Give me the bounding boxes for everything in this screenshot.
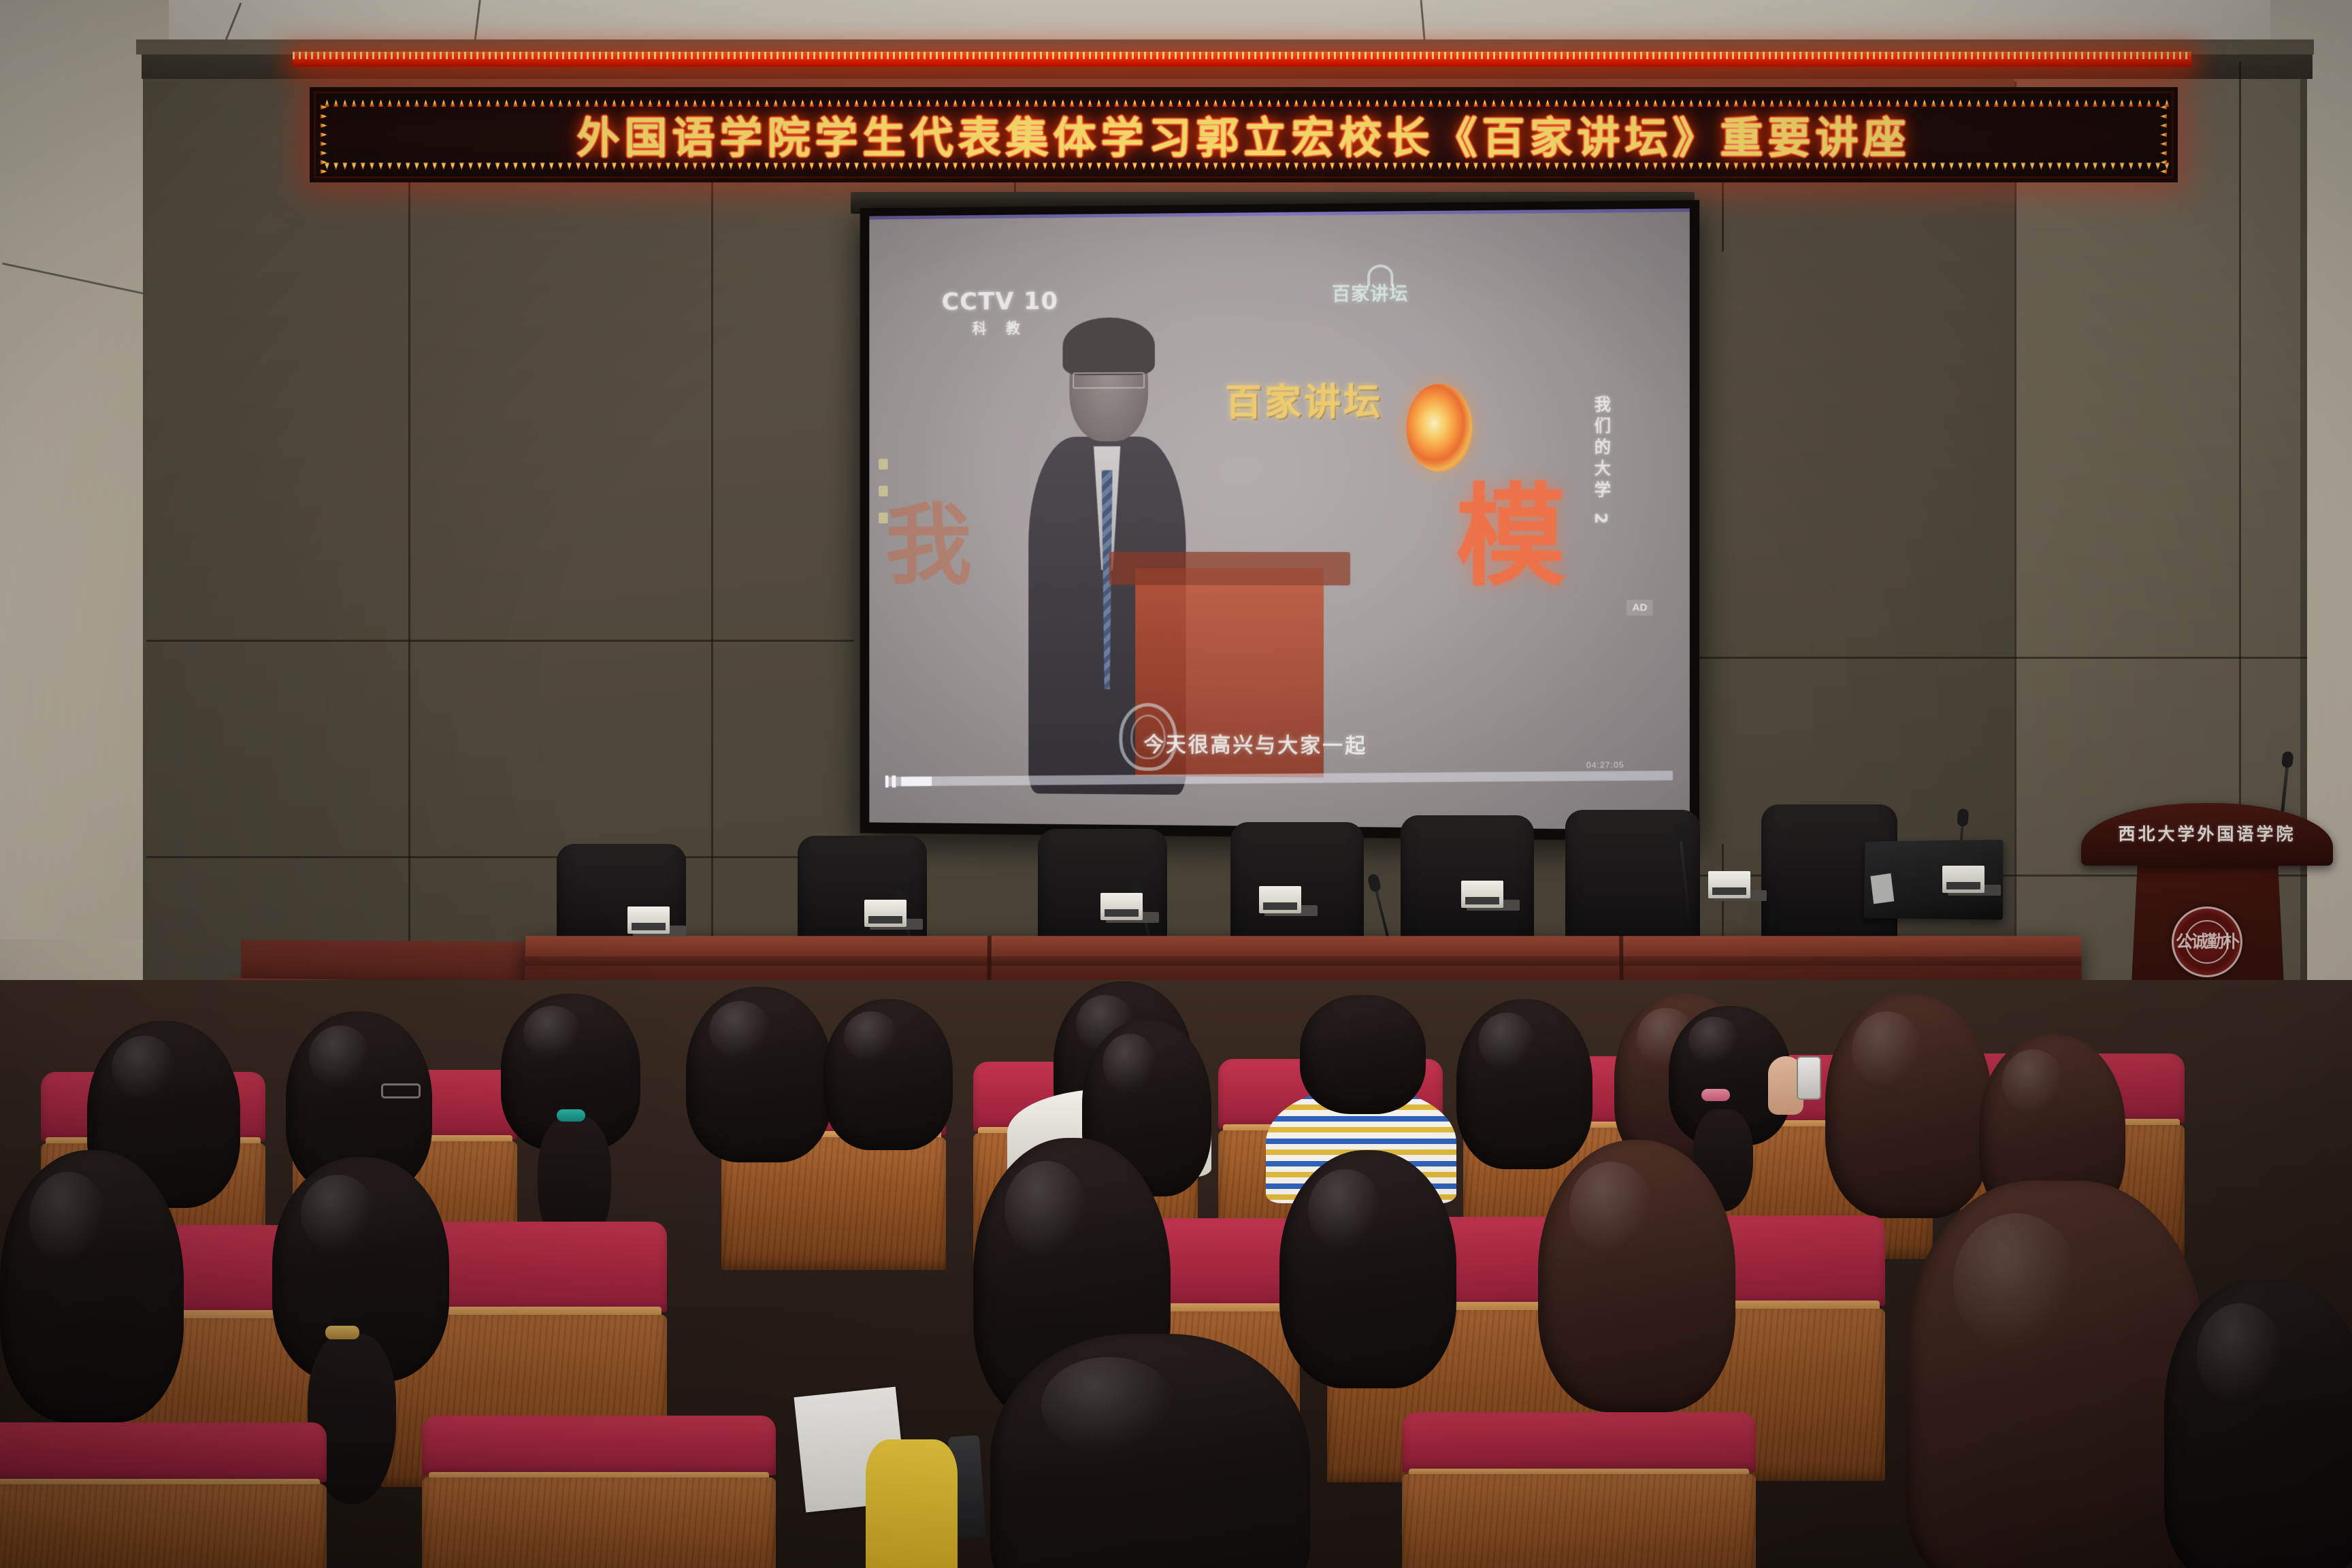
wall-panel-seam [1695,657,2307,659]
nameplate [1259,886,1301,913]
seat-cushion [0,1422,327,1482]
watermark-arc-icon [1367,265,1393,288]
program-watermark: 百家讲坛 [1332,279,1408,306]
seat-back-wood [422,1477,776,1568]
hairtie-icon [325,1326,359,1339]
glasses-icon [381,1083,421,1098]
university-seal-icon: 公诚勤朴 [2172,906,2242,977]
audience-head [1279,1150,1456,1388]
hairtie-icon [1701,1089,1730,1101]
hairtie-icon [557,1109,585,1122]
program-title: 百家讲坛 [1225,372,1383,426]
seat-cushion [1402,1412,1756,1472]
wall-panel-seam [2014,82,2016,1021]
wall-panel-seam [146,640,854,642]
lecturer-hair [1063,317,1155,375]
smartphone[interactable] [1797,1056,1821,1100]
audience-head [1456,999,1592,1169]
seat-cushion [422,1416,776,1475]
wall-panel-seam [408,170,410,1007]
projection-screen-frame: CCTV 10 科 教 百家讲坛 我 百家讲坛 模 我们的大学 2 [860,200,1699,841]
led-banner-text: 外国语学院学生代表集体学习郭立宏校长《百家讲坛》重要讲座 [310,104,2178,166]
audience-head [1906,1181,2205,1568]
audience-head [0,1150,184,1422]
screen-top-edge-line [869,208,1689,219]
seat-back-wood [1402,1474,1756,1568]
audience-head [990,1334,1310,1568]
red-neon-strip [293,52,2191,67]
seat[interactable] [1402,1412,1756,1568]
pause-icon[interactable] [885,775,896,787]
player-timecode: 04:27:05 [1586,760,1624,770]
cctv-channel-label: CCTV 10 [941,288,1058,316]
nameplate [864,900,906,927]
nameplate [1461,881,1503,908]
stage-table-top [525,936,2082,956]
audience-head [1825,994,1992,1218]
program-emblem-icon [1406,383,1472,471]
audience-head [823,999,953,1150]
seat[interactable] [422,1416,776,1568]
seat-back-wood [0,1484,327,1568]
wall-panel-seam [1722,170,1724,252]
audience-head [2164,1279,2352,1568]
screen-subtitle: 今天很高兴与大家一起 [1143,727,1367,758]
led-banner: 外国语学院学生代表集体学习郭立宏校长《百家讲坛》重要讲座 [310,87,2178,182]
wall-panel-seam [711,170,713,994]
nameplate [1100,893,1143,920]
lecturer-glasses-icon [1073,372,1145,389]
stage-table-lip [525,956,2081,966]
nameplate [1942,866,1984,893]
audience-head [1300,995,1426,1114]
projection-screen: CCTV 10 科 教 百家讲坛 我 百家讲坛 模 我们的大学 2 [869,208,1689,830]
ad-badge: AD [1627,600,1652,615]
audience-head [686,987,832,1162]
seal-glyph: 公诚勤朴 [2174,909,2240,975]
laptop-label-tag [1870,873,1894,904]
nameplate [1708,871,1750,898]
audience-head [1538,1140,1735,1412]
screen-big-character: 模 [1456,482,1566,591]
audience-shoulders [866,1439,958,1568]
screen-left-character: 我 [885,501,972,589]
nameplate [627,906,670,934]
seat[interactable] [0,1422,327,1568]
progress-fill [901,777,932,786]
wall-panel-seam [146,856,854,858]
auditorium-scene: 外国语学院学生代表集体学习郭立宏校长《百家讲坛》重要讲座 CCTV 10 科 教… [0,0,2352,1568]
series-title-vertical: 我们的大学 2 [1589,395,1614,529]
podium-institution-text: 西北大学外国语学院 [2081,821,2333,845]
